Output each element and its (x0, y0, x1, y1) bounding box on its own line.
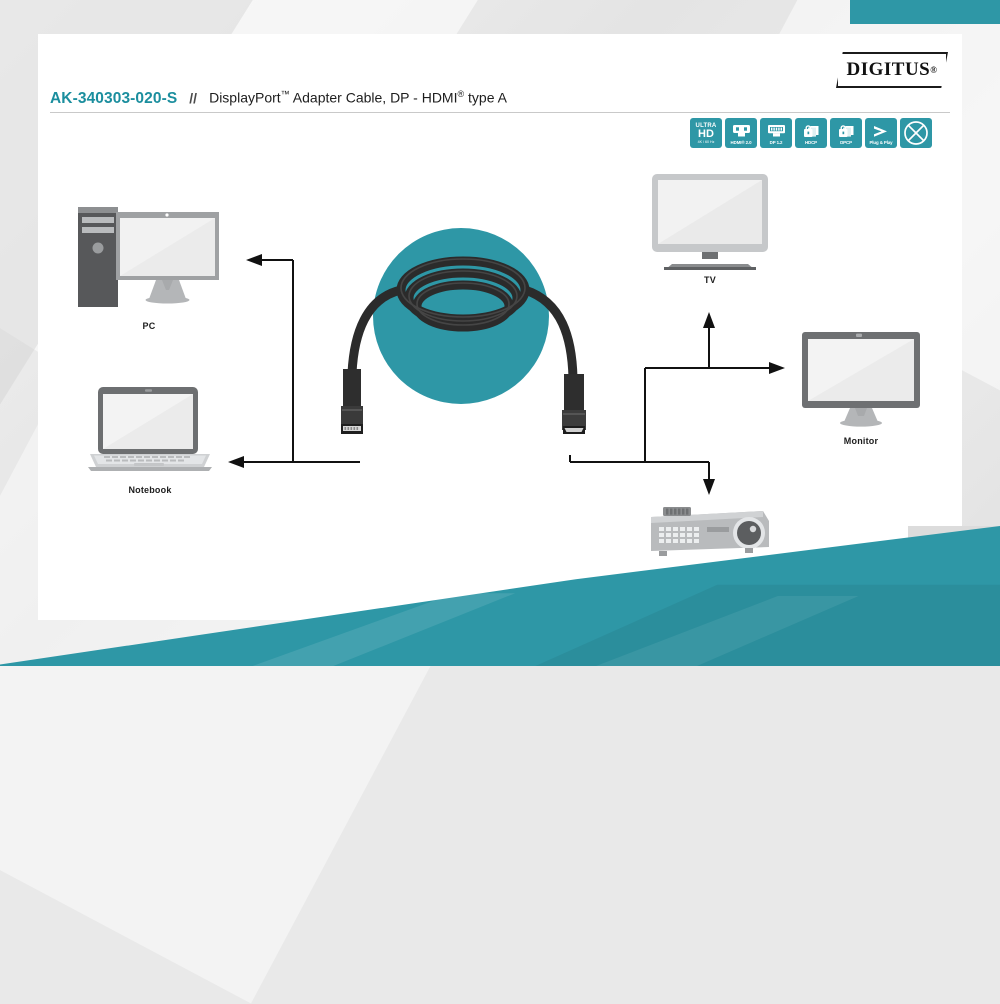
label-pc: PC (86, 321, 212, 331)
arrowhead-notebook (228, 456, 244, 468)
bottom-right-accent-wedge (0, 526, 1000, 666)
arrowhead-tv (703, 312, 715, 328)
arrowhead-pc (246, 254, 262, 266)
device-notebook (88, 385, 212, 473)
device-monitor (800, 330, 922, 428)
hdmi-connector (562, 374, 586, 434)
device-pc (76, 203, 221, 313)
label-tv: TV (647, 275, 773, 285)
label-monitor: Monitor (798, 436, 924, 446)
label-notebook: Notebook (87, 485, 213, 495)
product-image (330, 228, 595, 443)
device-tv (650, 172, 770, 272)
arrowhead-beamer (703, 479, 715, 495)
arrowhead-monitor (769, 362, 785, 374)
displayport-connector (341, 369, 363, 434)
